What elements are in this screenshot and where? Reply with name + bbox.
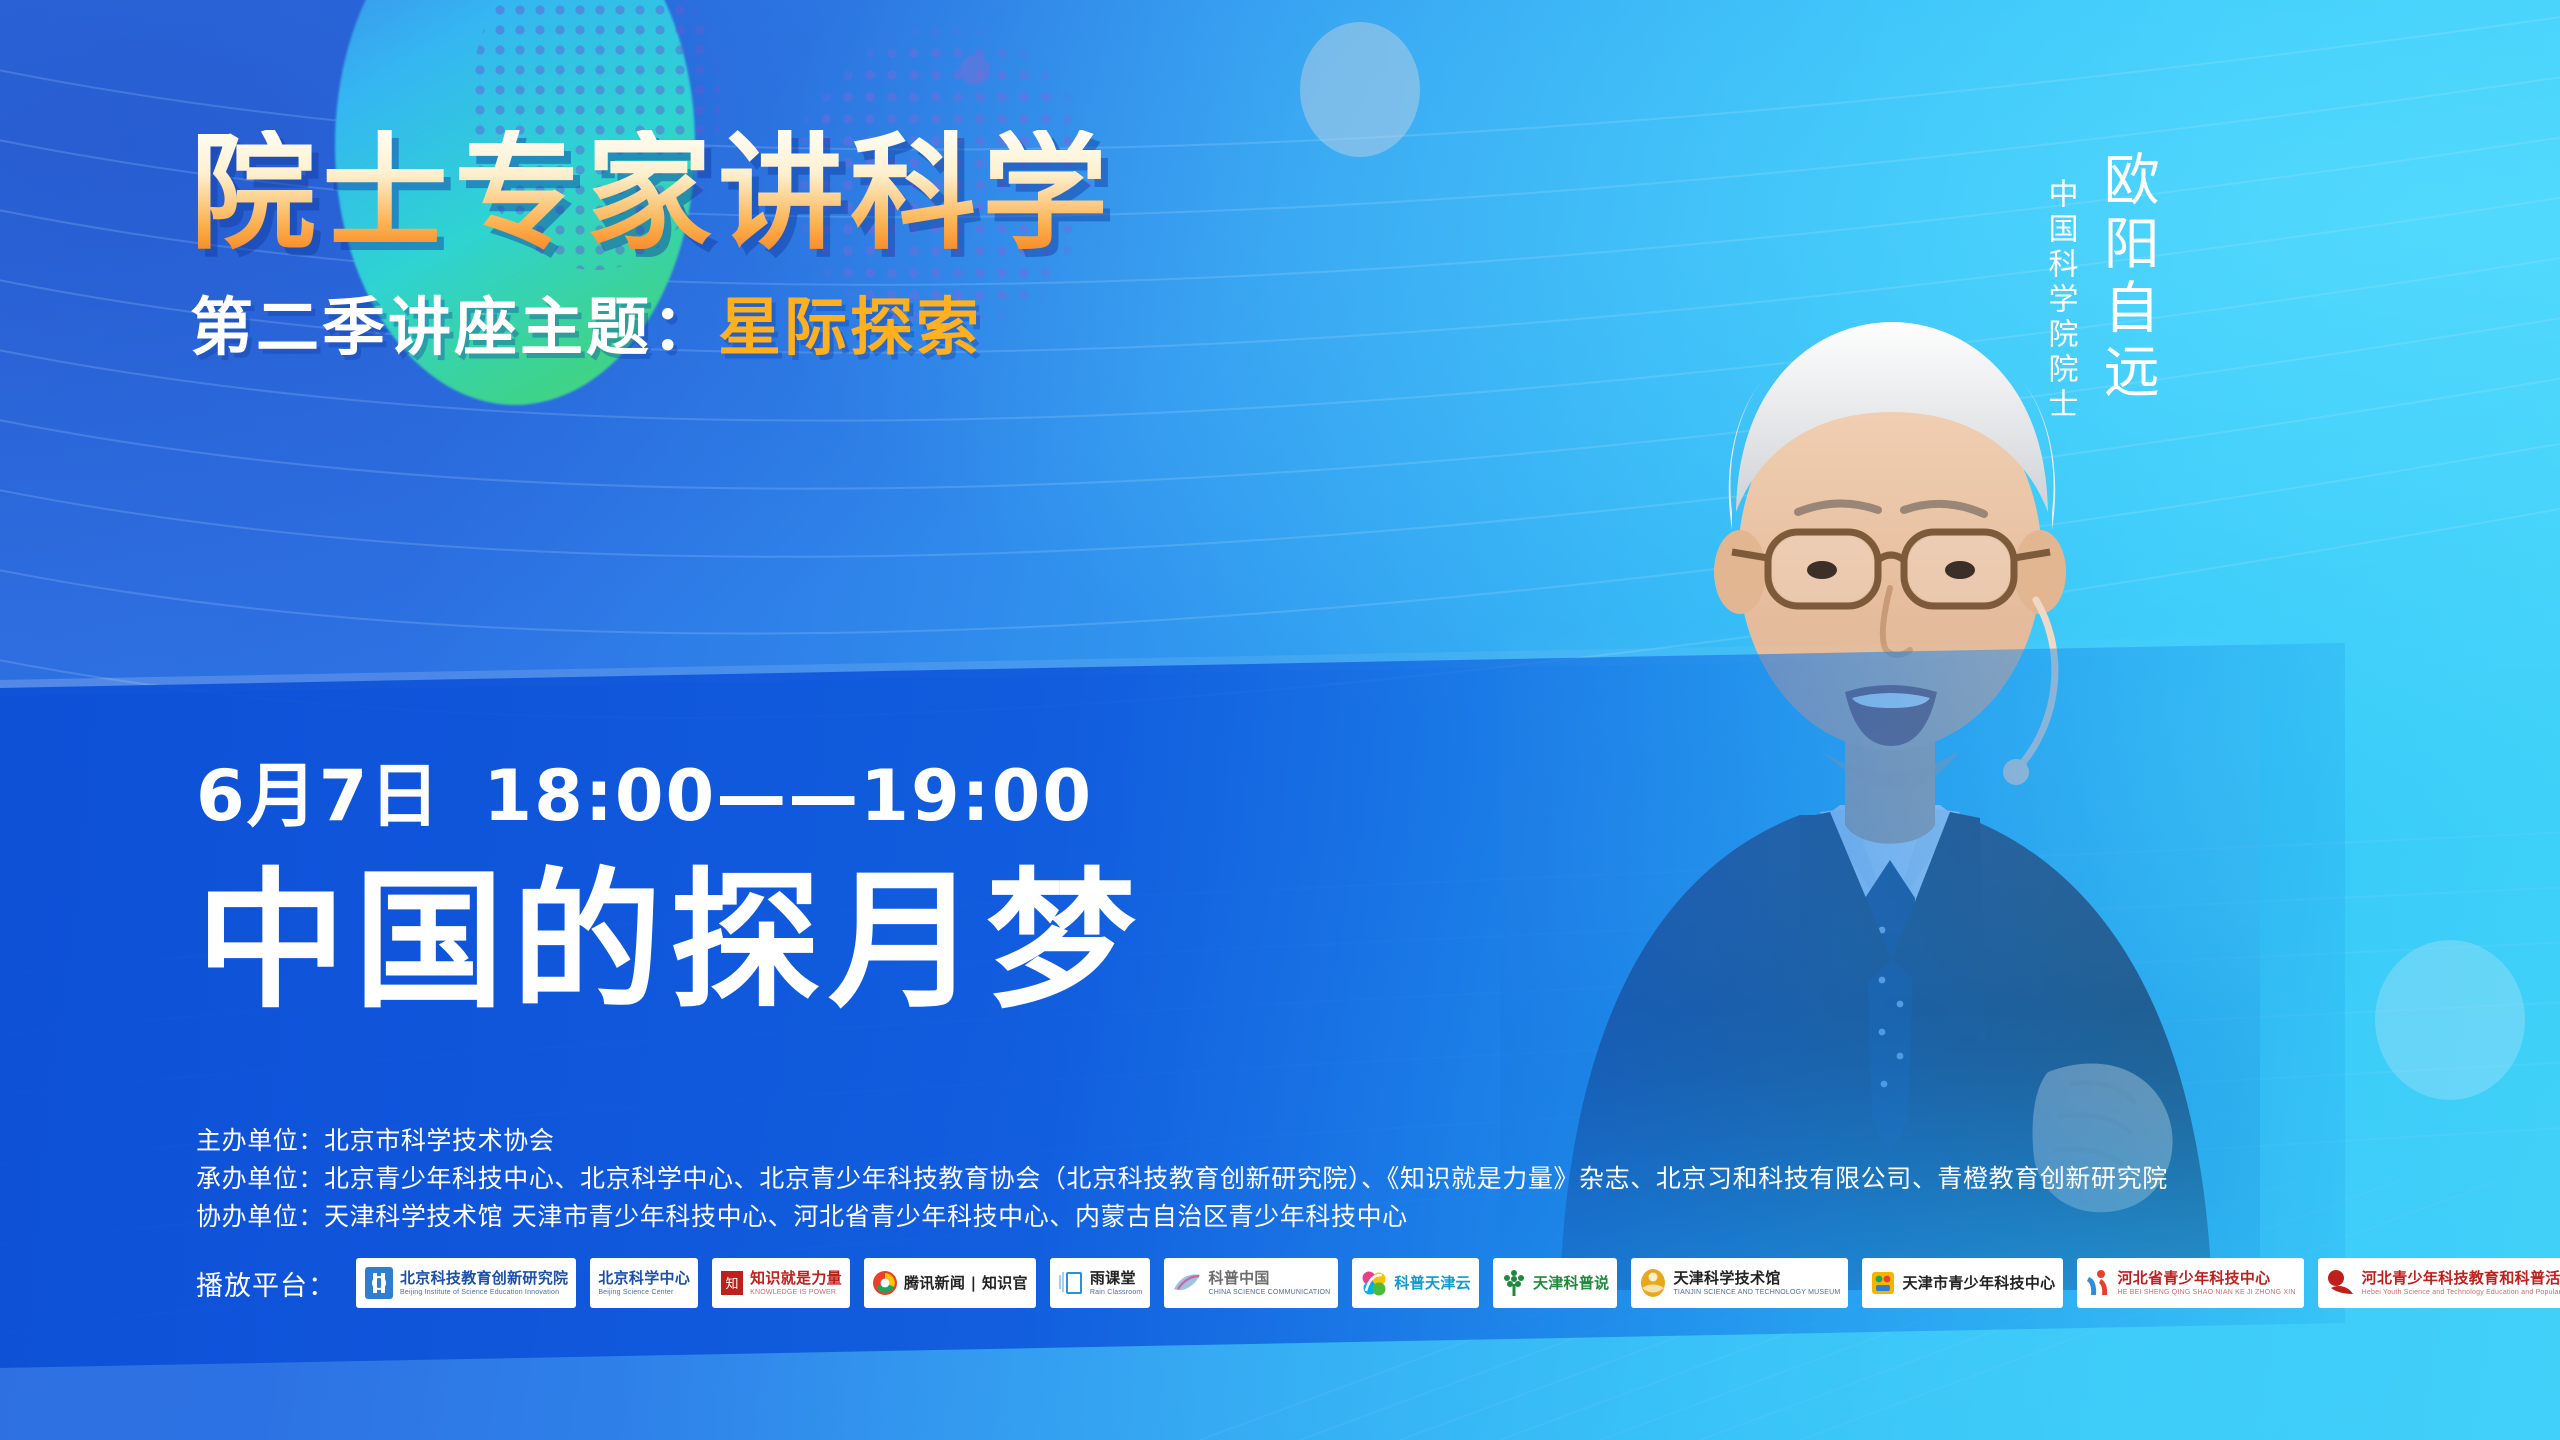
kepu-tianjin-cloud-logo-icon xyxy=(1360,1269,1388,1297)
season-label: 第二季讲座主题： xyxy=(190,291,718,364)
logo-name-cn: 河北省青少年科技中心 xyxy=(2117,1271,2295,1286)
header-block: 院士专家讲科学 第二季讲座主题：星际探索 xyxy=(190,130,1310,368)
logo-item[interactable]: 天津科普说 xyxy=(1493,1258,1618,1308)
logo-item[interactable]: 腾讯新闻 | 知识官 xyxy=(864,1258,1036,1308)
season-topic: 星际探索 xyxy=(718,291,982,364)
credit-label: 协办单位： xyxy=(196,1202,324,1231)
season-subtitle: 第二季讲座主题：星际探索 xyxy=(190,277,1310,368)
logo-name-cn: 河北青少年科技教育和科普活动服务平台 xyxy=(2362,1271,2560,1286)
event-time: 18:00——19:00 xyxy=(483,755,1093,837)
band-top-accent xyxy=(0,635,2350,696)
logo-name-en: HE BEI SHENG QING SHAO NIAN KE JI ZHONG … xyxy=(2117,1289,2295,1296)
logo-name-cn: 北京科学中心 xyxy=(598,1271,690,1286)
logo-name-en: Beijing Science Center xyxy=(598,1289,690,1296)
logo-name-en: KNOWLEDGE IS POWER xyxy=(750,1289,842,1296)
logo-name-cn: 北京科技教育创新研究院 xyxy=(400,1271,568,1286)
zhishi-logo-icon: 知 xyxy=(720,1270,744,1296)
logo-name-cn: 知识就是力量 xyxy=(750,1271,842,1286)
logo-name-en: TIANJIN SCIENCE AND TECHNOLOGY MUSEUM xyxy=(1673,1289,1840,1296)
platform-label: 播放平台： xyxy=(196,1264,336,1303)
kepu-china-logo-icon xyxy=(1172,1271,1202,1295)
credits-block: 主办单位：北京市科学技术协会 承办单位：北京青少年科技中心、北京科学中心、北京青… xyxy=(196,1122,2168,1236)
logo-item[interactable]: 北京科技教育创新研究院 Beijing Institute of Science… xyxy=(356,1258,576,1308)
speaker-name: 欧阳自远 xyxy=(2095,150,2158,406)
logo-item[interactable]: 河北青少年科技教育和科普活动服务平台 Hebei Youth Science a… xyxy=(2318,1258,2560,1308)
credit-value: 天津科学技术馆 天津市青少年科技中心、河北省青少年科技中心、内蒙古自治区青少年科… xyxy=(324,1202,1408,1231)
credit-label: 主办单位： xyxy=(196,1126,324,1155)
hebei-platform-logo-icon xyxy=(2326,1268,2356,1298)
lecture-title: 中国的探月梦 xyxy=(196,861,2096,1023)
credit-value: 北京青少年科技中心、北京科学中心、北京青少年科技教育协会（北京科技教育创新研究院… xyxy=(324,1164,2168,1193)
event-info: 6月7日18:00——19:00 中国的探月梦 xyxy=(196,740,2096,1023)
credit-row: 主办单位：北京市科学技术协会 xyxy=(196,1122,2168,1160)
credit-label: 承办单位： xyxy=(196,1164,324,1193)
logo-item[interactable]: 科普天津云 xyxy=(1352,1258,1479,1308)
credit-row: 承办单位：北京青少年科技中心、北京科学中心、北京青少年科技教育协会（北京科技教育… xyxy=(196,1160,2168,1198)
logo-name-cn: 科普中国 xyxy=(1208,1271,1330,1286)
logo-item[interactable]: 知 知识就是力量 KNOWLEDGE IS POWER xyxy=(712,1258,850,1308)
bjkj-logo-icon xyxy=(364,1266,394,1300)
poster-canvas: 院士专家讲科学 第二季讲座主题：星际探索 欧阳自远 中国科学院院士 6月7日18… xyxy=(0,0,2560,1440)
hebei-youth-logo-icon xyxy=(2085,1268,2111,1298)
tianjin-youth-logo-icon xyxy=(1870,1269,1896,1297)
rain-classroom-logo-icon xyxy=(1058,1269,1084,1297)
logo-item[interactable]: 北京科学中心 Beijing Science Center xyxy=(590,1258,698,1308)
logo-name-en: CHINA SCIENCE COMMUNICATION xyxy=(1208,1289,1330,1296)
platform-logo-strip: 播放平台： 北京科技教育创新研究院 Beijing Institute of S… xyxy=(196,1258,2560,1308)
logo-item[interactable]: 科普中国 CHINA SCIENCE COMMUNICATION xyxy=(1164,1258,1338,1308)
logo-item[interactable]: 雨课堂 Rain Classroom xyxy=(1050,1258,1151,1308)
credit-value: 北京市科学技术协会 xyxy=(324,1126,554,1155)
grey-circle-decor-icon xyxy=(1300,22,1420,157)
tianjin-kepushuo-logo-icon xyxy=(1501,1268,1527,1298)
logo-item[interactable]: 天津科学技术馆 TIANJIN SCIENCE AND TECHNOLOGY M… xyxy=(1631,1258,1848,1308)
series-title: 院士专家讲科学 xyxy=(190,130,1310,259)
small-purple-dot-icon xyxy=(960,55,990,85)
tianjin-museum-logo-icon xyxy=(1639,1268,1667,1298)
speaker-organization: 中国科学院院士 xyxy=(2042,178,2077,423)
event-datetime: 6月7日18:00——19:00 xyxy=(196,740,2096,841)
logo-name-cn: 腾讯新闻 | 知识官 xyxy=(904,1276,1028,1291)
grey-circle-decor-secondary-icon xyxy=(2375,940,2525,1100)
logo-name-cn: 科普天津云 xyxy=(1394,1276,1471,1291)
logo-name-en: Rain Classroom xyxy=(1090,1289,1143,1296)
logo-item[interactable]: 河北省青少年科技中心 HE BEI SHENG QING SHAO NIAN K… xyxy=(2077,1258,2303,1308)
logo-name-cn: 天津科普说 xyxy=(1533,1276,1610,1291)
logo-name-en: Hebei Youth Science and Technology Educa… xyxy=(2362,1289,2560,1296)
credit-row: 协办单位：天津科学技术馆 天津市青少年科技中心、河北省青少年科技中心、内蒙古自治… xyxy=(196,1198,2168,1236)
logo-name-en: Beijing Institute of Science Education I… xyxy=(400,1289,568,1296)
logo-name-cn: 天津科学技术馆 xyxy=(1673,1271,1840,1286)
event-date: 6月7日 xyxy=(196,755,441,837)
speaker-name-block: 欧阳自远 中国科学院院士 xyxy=(2042,150,2157,630)
logo-name-cn: 天津市青少年科技中心 xyxy=(1902,1276,2055,1291)
logo-item[interactable]: 天津市青少年科技中心 xyxy=(1862,1258,2063,1308)
logo-name-cn: 雨课堂 xyxy=(1090,1271,1143,1286)
svg-text:知: 知 xyxy=(726,1276,739,1292)
tencent-news-logo-icon xyxy=(872,1270,898,1296)
